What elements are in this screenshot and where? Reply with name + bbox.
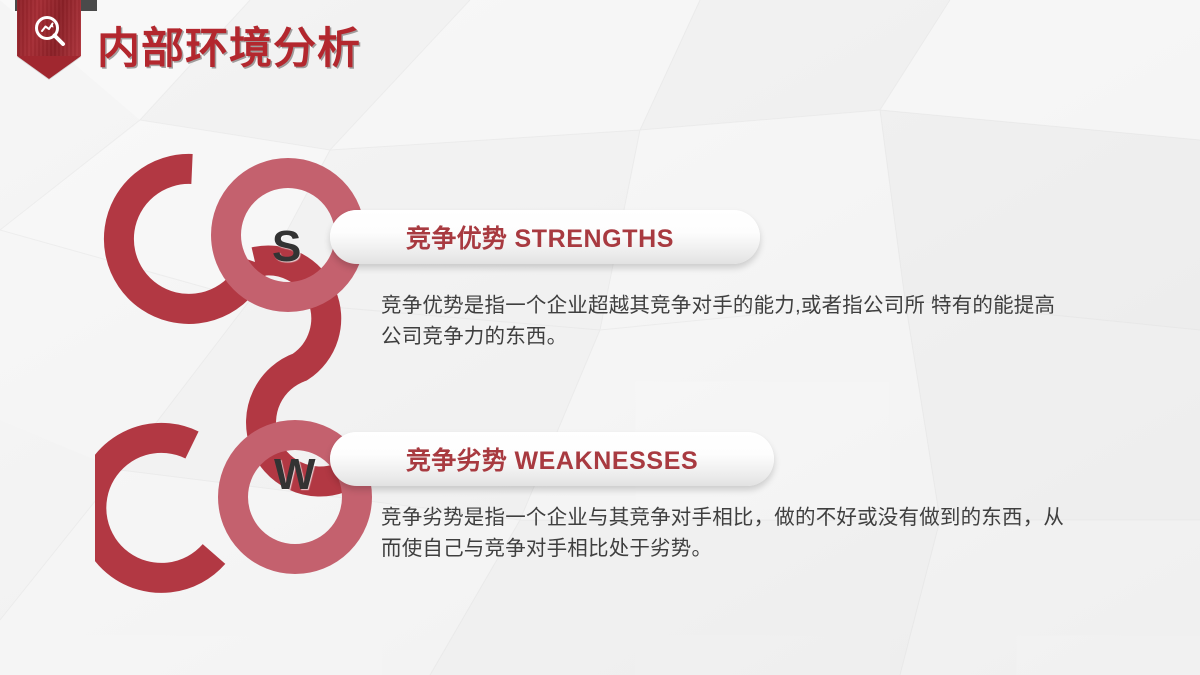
section-pill-strengths[interactable]: 竞争优势 STRENGTHS xyxy=(330,210,760,264)
body-text-weaknesses: 竞争劣势是指一个企业与其竞争对手相比，做的不好或没有做到的东西，从而使自己与竞争… xyxy=(381,503,1071,565)
page-title: 内部环境分析 xyxy=(97,14,361,76)
pill-label-cn: 竞争劣势 xyxy=(406,447,507,475)
slide: 内部环境分析 S 竞争优势 STRENGTHS 竞争优势是指一个企业超越其竞争对… xyxy=(0,0,1200,675)
pill-label-weaknesses: 竞争劣势 WEAKNESSES xyxy=(406,441,698,477)
body-text-strengths: 竞争优势是指一个企业超越其竞争对手的能力,或者指公司所 特有的能提高公司竞争力的… xyxy=(381,291,1071,353)
section-pill-weaknesses[interactable]: 竞争劣势 WEAKNESSES xyxy=(330,432,774,486)
magnifier-chart-icon xyxy=(33,14,67,48)
pill-label-strengths: 竞争优势 STRENGTHS xyxy=(406,219,674,255)
ribbon-tip xyxy=(17,56,81,79)
badge-letter-w: W xyxy=(274,450,316,500)
pill-label-en: WEAKNESSES xyxy=(514,447,698,475)
pill-label-cn: 竞争优势 xyxy=(406,225,507,253)
pill-label-en: STRENGTHS xyxy=(514,225,674,253)
badge-letter-s: S xyxy=(272,222,301,272)
header-ribbon xyxy=(17,0,81,79)
